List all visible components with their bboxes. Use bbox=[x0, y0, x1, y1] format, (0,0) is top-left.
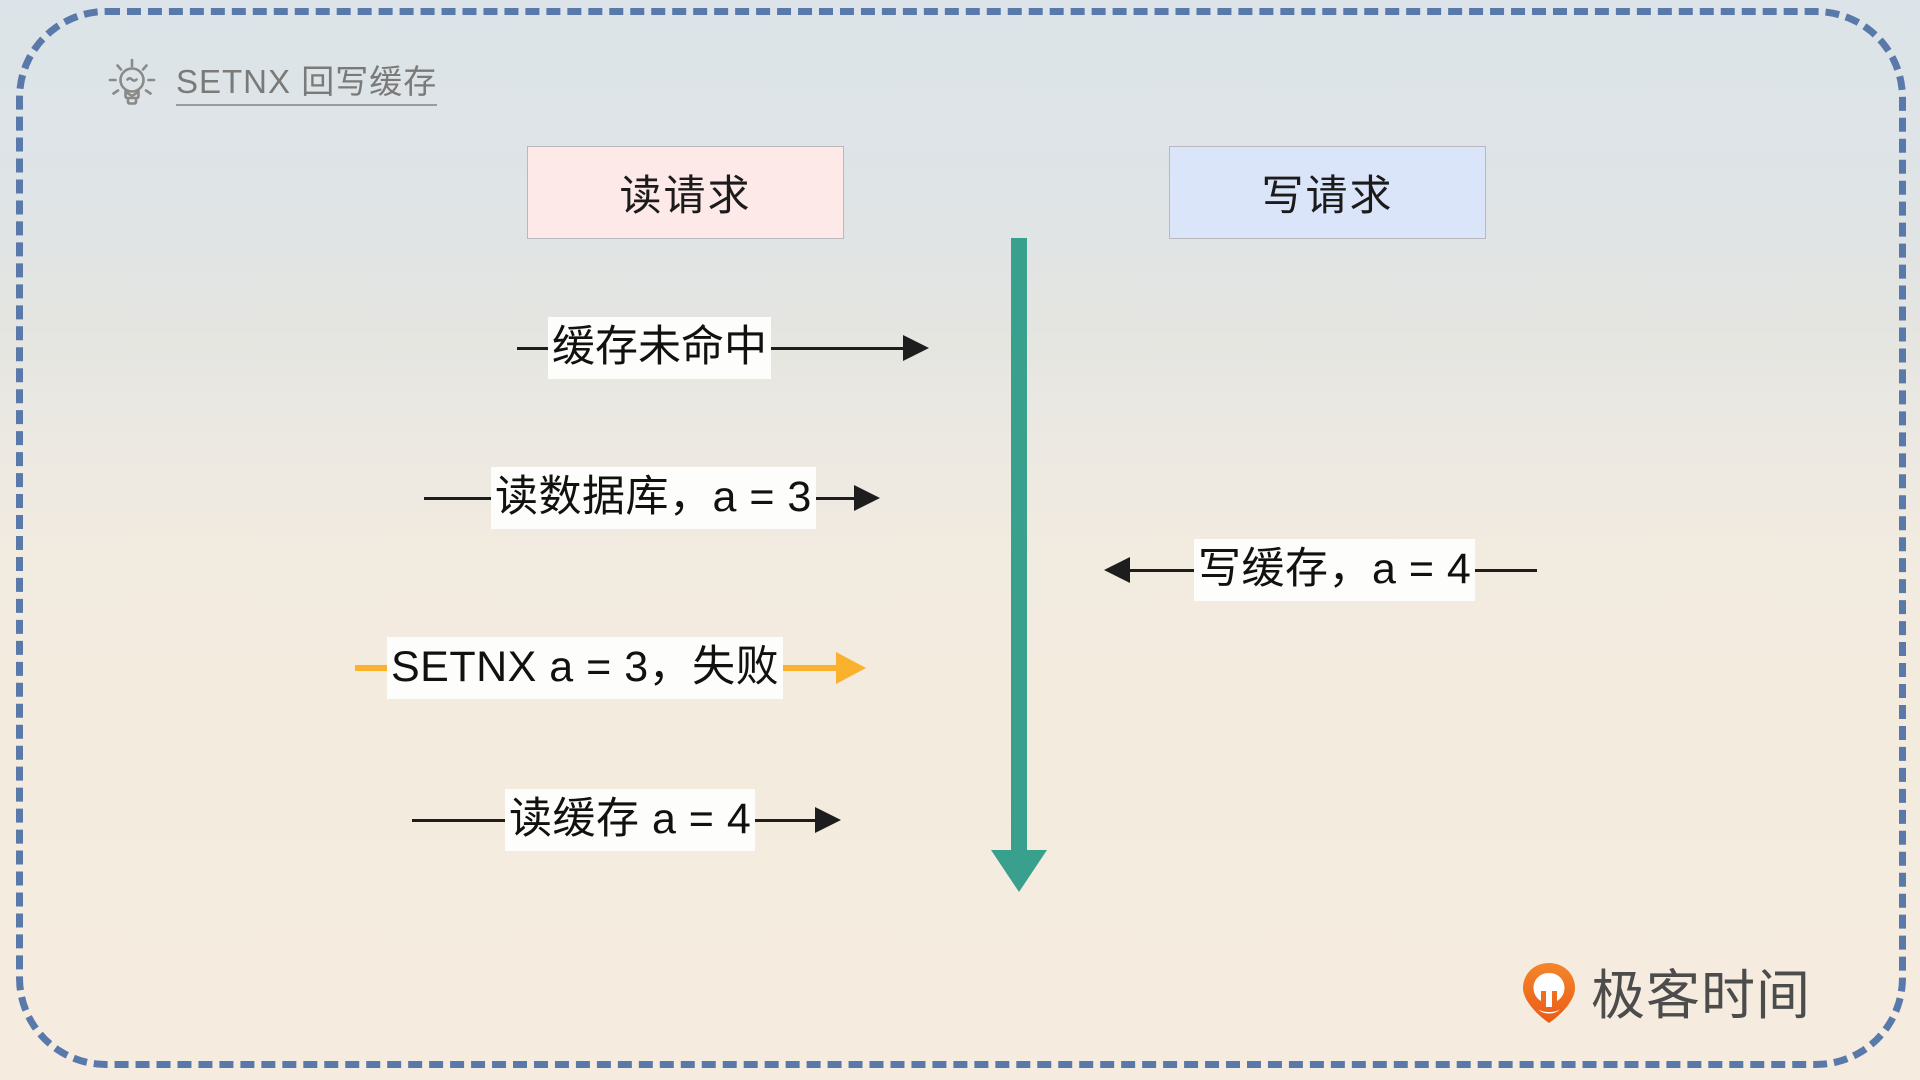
message-setnx-fail: SETNX a = 3，失败 bbox=[355, 638, 866, 698]
geekbang-mark-icon bbox=[1520, 962, 1578, 1029]
message-label: 写缓存，a = 4 bbox=[1194, 539, 1475, 601]
message-read-cache: 读缓存 a = 4 bbox=[412, 790, 841, 850]
brand-logo: 极客时间 bbox=[1520, 962, 1811, 1029]
message-write-cache: 写缓存，a = 4 bbox=[1104, 540, 1537, 600]
lane-label: 读请求 bbox=[619, 162, 751, 223]
arrow-shaft bbox=[1130, 569, 1194, 572]
message-cache-miss: 缓存未命中 bbox=[517, 318, 929, 378]
arrow-shaft bbox=[355, 665, 387, 671]
message-label: 缓存未命中 bbox=[548, 317, 771, 379]
message-read-db: 读数据库，a = 3 bbox=[424, 468, 880, 528]
arrow-shaft bbox=[424, 497, 491, 500]
page-title: SETNX 回写缓存 bbox=[176, 65, 437, 106]
vertical-time-arrow-head bbox=[991, 850, 1047, 892]
arrow-shaft bbox=[755, 819, 815, 822]
lane-header-write-request: 写请求 bbox=[1169, 146, 1486, 239]
arrow-shaft bbox=[517, 347, 548, 350]
brand-name: 极客时间 bbox=[1591, 969, 1811, 1023]
message-label: 读缓存 a = 4 bbox=[505, 789, 755, 851]
arrow-head-right-icon bbox=[815, 807, 841, 833]
message-label: 读数据库，a = 3 bbox=[491, 467, 816, 529]
vertical-time-arrow-shaft bbox=[1011, 238, 1027, 858]
header: SETNX 回写缓存 bbox=[104, 55, 437, 116]
arrow-shaft bbox=[816, 497, 854, 500]
diagram-canvas: SETNX 回写缓存 读请求 写请求 缓存未命中 读数据库，a = 3 写缓存，… bbox=[0, 0, 1920, 1080]
arrow-head-left-icon bbox=[1104, 557, 1130, 583]
arrow-head-right-icon bbox=[903, 335, 929, 361]
arrow-shaft bbox=[771, 347, 903, 350]
dashed-border-frame bbox=[16, 8, 1906, 1068]
lane-header-read-request: 读请求 bbox=[527, 146, 844, 239]
arrow-head-right-icon bbox=[854, 485, 880, 511]
arrow-shaft bbox=[783, 665, 836, 671]
lane-label: 写请求 bbox=[1261, 162, 1393, 223]
arrow-shaft bbox=[1475, 569, 1537, 572]
arrow-head-right-icon bbox=[836, 652, 866, 684]
arrow-shaft bbox=[412, 819, 505, 822]
message-label: SETNX a = 3，失败 bbox=[387, 637, 783, 699]
lightbulb-icon bbox=[104, 55, 160, 116]
